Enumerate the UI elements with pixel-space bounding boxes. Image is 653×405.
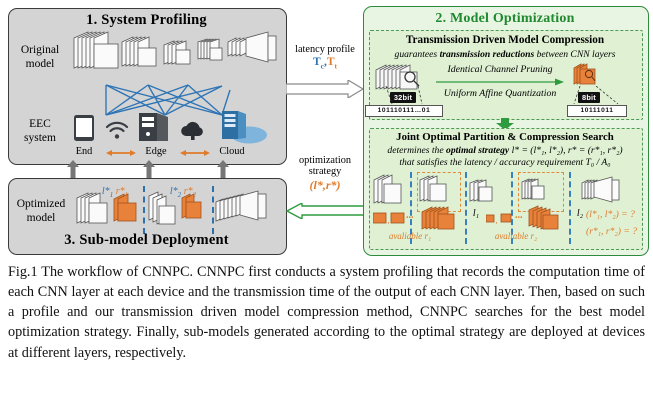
tier-label-cloud: Cloud [208, 146, 256, 157]
eec-system-label-line1: EEC [12, 118, 68, 131]
subtitle-post: between CNN layers [534, 49, 615, 60]
subtitle-bold: transmission reductions [440, 49, 535, 60]
optimization-strategy-label-line2: strategy [288, 166, 362, 177]
method-identical-channel-pruning: Identical Channel Pruning [436, 64, 564, 75]
latency-symbol-tt: T [327, 56, 335, 68]
joint-line1-math: l* = (l*₁, l*₂), r* = (r*₁, r*₂) [512, 145, 623, 156]
transmission-compression-heading: Transmission Driven Model Compression [369, 34, 641, 46]
bitstring-left-ellipsis: … [415, 107, 422, 114]
joint-line1-pre: determines the [387, 145, 446, 156]
joint-line1-bold: optimal strategy [446, 145, 509, 156]
server-cloud-icon [216, 110, 268, 144]
available-r1-label: avaliable r₁ [370, 231, 450, 241]
deploy-arrow-edge [142, 160, 156, 180]
optimized-model-label-line1: Optimized [10, 198, 72, 211]
available-r1-swatches: , [373, 210, 405, 226]
available-r1-stack [420, 204, 462, 232]
panel-submodel-deployment-title: 3. Sub-model Deployment [8, 232, 285, 249]
optimization-strategy-connector: optimization strategy (l*,r*) [288, 155, 362, 193]
deploy-arrow-cloud [216, 160, 230, 180]
tier-label-edge: Edge [132, 146, 180, 157]
figure-caption: Fig.1 The workflow of CNNPC. CNNPC first… [8, 262, 645, 363]
original-model-label-line1: Original [12, 44, 68, 57]
original-model-label-line2: model [12, 58, 68, 71]
svg-text:,: , [496, 216, 498, 225]
available-r2-ellipsis: ... [515, 210, 523, 221]
bitstring-32bit: 101110111…01 [365, 105, 443, 117]
tier-arrow-edge-cloud [180, 148, 210, 158]
bitstring-right-guides [570, 86, 624, 106]
bitstring-left-tail: 01 [422, 107, 431, 114]
candidate-layer-l1-label: l₁ [466, 208, 486, 219]
query-partition: (l*₁, l*₂) = ? [586, 209, 644, 220]
latency-profile-label: latency profile [288, 44, 362, 55]
latency-profile-arrow [286, 80, 364, 98]
optimization-strategy-label-line1: optimization [288, 155, 362, 166]
svg-text:,: , [388, 216, 390, 225]
joint-search-line2: that satisfies the latency / accuracy re… [369, 157, 641, 168]
bitstring-left-head: 101110111 [378, 107, 415, 114]
latency-profile-symbols: Tc,Tt [288, 56, 362, 70]
latency-symbol-tt-sub: t [335, 61, 338, 70]
optimized-model-cnn-stack [74, 190, 274, 238]
cloud-upload-icon [179, 118, 207, 140]
figure-root: 1. System Profiling Original model [0, 0, 653, 405]
deploy-arrow-end [66, 160, 80, 180]
compression-method-arrow-top [436, 78, 564, 86]
subtitle-pre: guarantees [395, 49, 440, 60]
tier-arrow-end-edge [106, 148, 136, 158]
tier-label-end: End [60, 146, 108, 157]
available-r2-label: avaliable r₂ [476, 231, 556, 241]
compression-result-layer-icon [572, 62, 606, 88]
bitstring-left-guides [372, 86, 434, 106]
bitstring-8bit: 10111011 [567, 105, 627, 117]
available-r2-stack [527, 204, 569, 232]
latency-profile-connector: latency profile Tc,Tt [288, 44, 362, 70]
eec-system-label-line2: system [12, 132, 68, 145]
method-uniform-affine-quantization: Uniform Affine Quantization [430, 88, 570, 99]
transmission-compression-subtitle: guarantees transmission reductions betwe… [369, 49, 641, 60]
panel-model-optimization-title: 2. Model Optimization [363, 11, 647, 27]
query-compression: (r*₁, r*₂) = ? [586, 226, 644, 237]
available-r1-ellipsis: ... [406, 210, 414, 221]
tablet-icon [72, 114, 96, 142]
optimization-strategy-arrow [286, 203, 364, 219]
available-r2-swatches: , [486, 211, 514, 225]
joint-search-line1: determines the optimal strategy l* = (l*… [369, 145, 641, 156]
optimized-model-label-line2: model [10, 212, 72, 225]
optimization-strategy-symbol: (l*,r*) [288, 178, 362, 193]
panel-system-profiling-title: 1. System Profiling [8, 12, 285, 29]
wifi-icon [104, 120, 130, 140]
latency-symbol-tc: T [313, 56, 321, 68]
original-model-cnn-stack [70, 30, 280, 88]
server-tower-icon [138, 112, 172, 142]
joint-search-heading: Joint Optimal Partition & Compression Se… [369, 131, 641, 143]
